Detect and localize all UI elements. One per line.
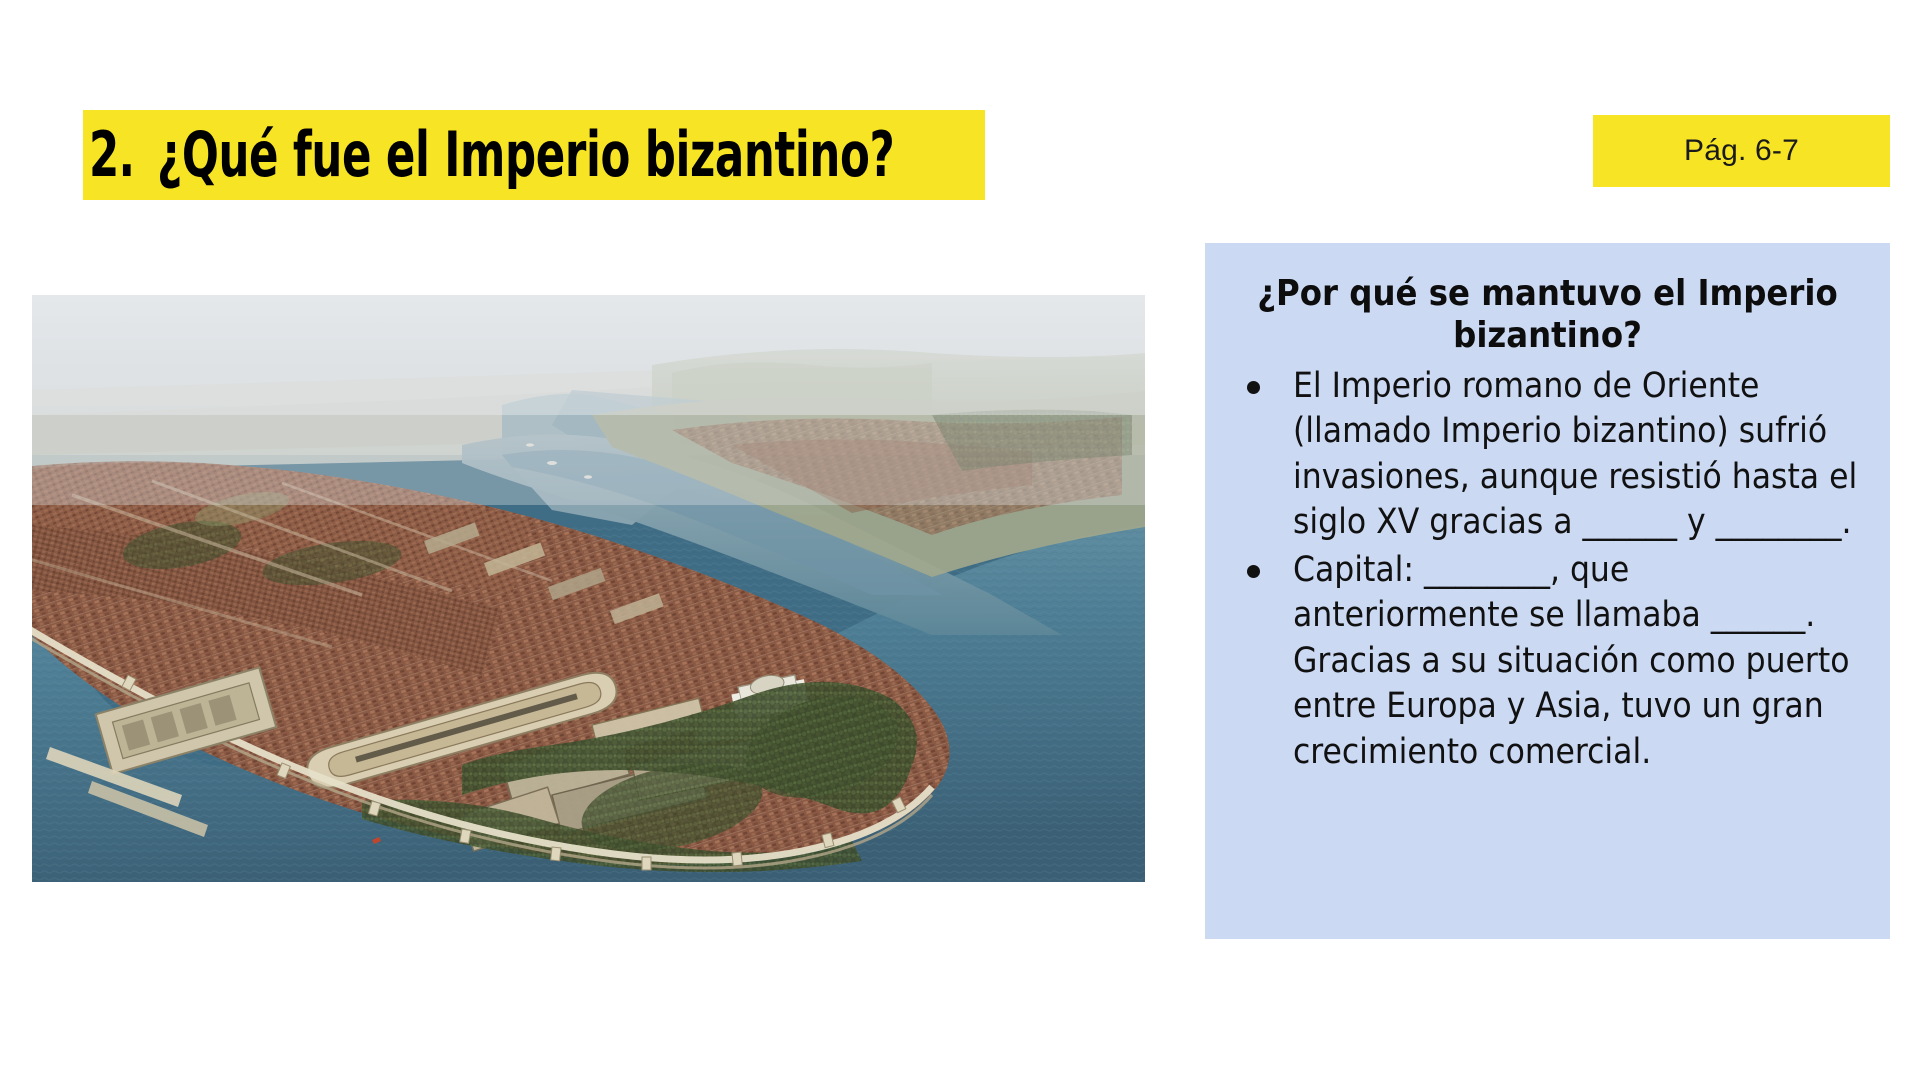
bullet-dot-icon — [1247, 565, 1260, 578]
note-panel: ¿Por qué se mantuvo el Imperio bizantino… — [1205, 243, 1890, 939]
title-banner: 2. ¿Qué fue el Imperio bizantino? — [83, 110, 985, 200]
note-heading: ¿Por qué se mantuvo el Imperio bizantino… — [1231, 273, 1864, 358]
page-title: ¿Qué fue el Imperio bizantino? — [157, 124, 894, 186]
page-reference-label: Pág. 6-7 — [1684, 134, 1799, 168]
list-item: Capital: ________, que anteriormente se … — [1231, 548, 1864, 776]
list-item-text: Capital: ________, que anteriormente se … — [1293, 550, 1849, 772]
page-reference-badge: Pág. 6-7 — [1593, 115, 1890, 187]
constantinople-illustration — [32, 295, 1145, 882]
constantinople-aerial-image — [32, 295, 1145, 882]
list-item: El Imperio romano de Oriente (llamado Im… — [1231, 364, 1864, 546]
note-bullet-list: El Imperio romano de Oriente (llamado Im… — [1231, 364, 1864, 776]
bullet-dot-icon — [1247, 381, 1260, 394]
list-item-text: El Imperio romano de Oriente (llamado Im… — [1293, 366, 1857, 543]
title-number: 2. — [89, 124, 134, 186]
